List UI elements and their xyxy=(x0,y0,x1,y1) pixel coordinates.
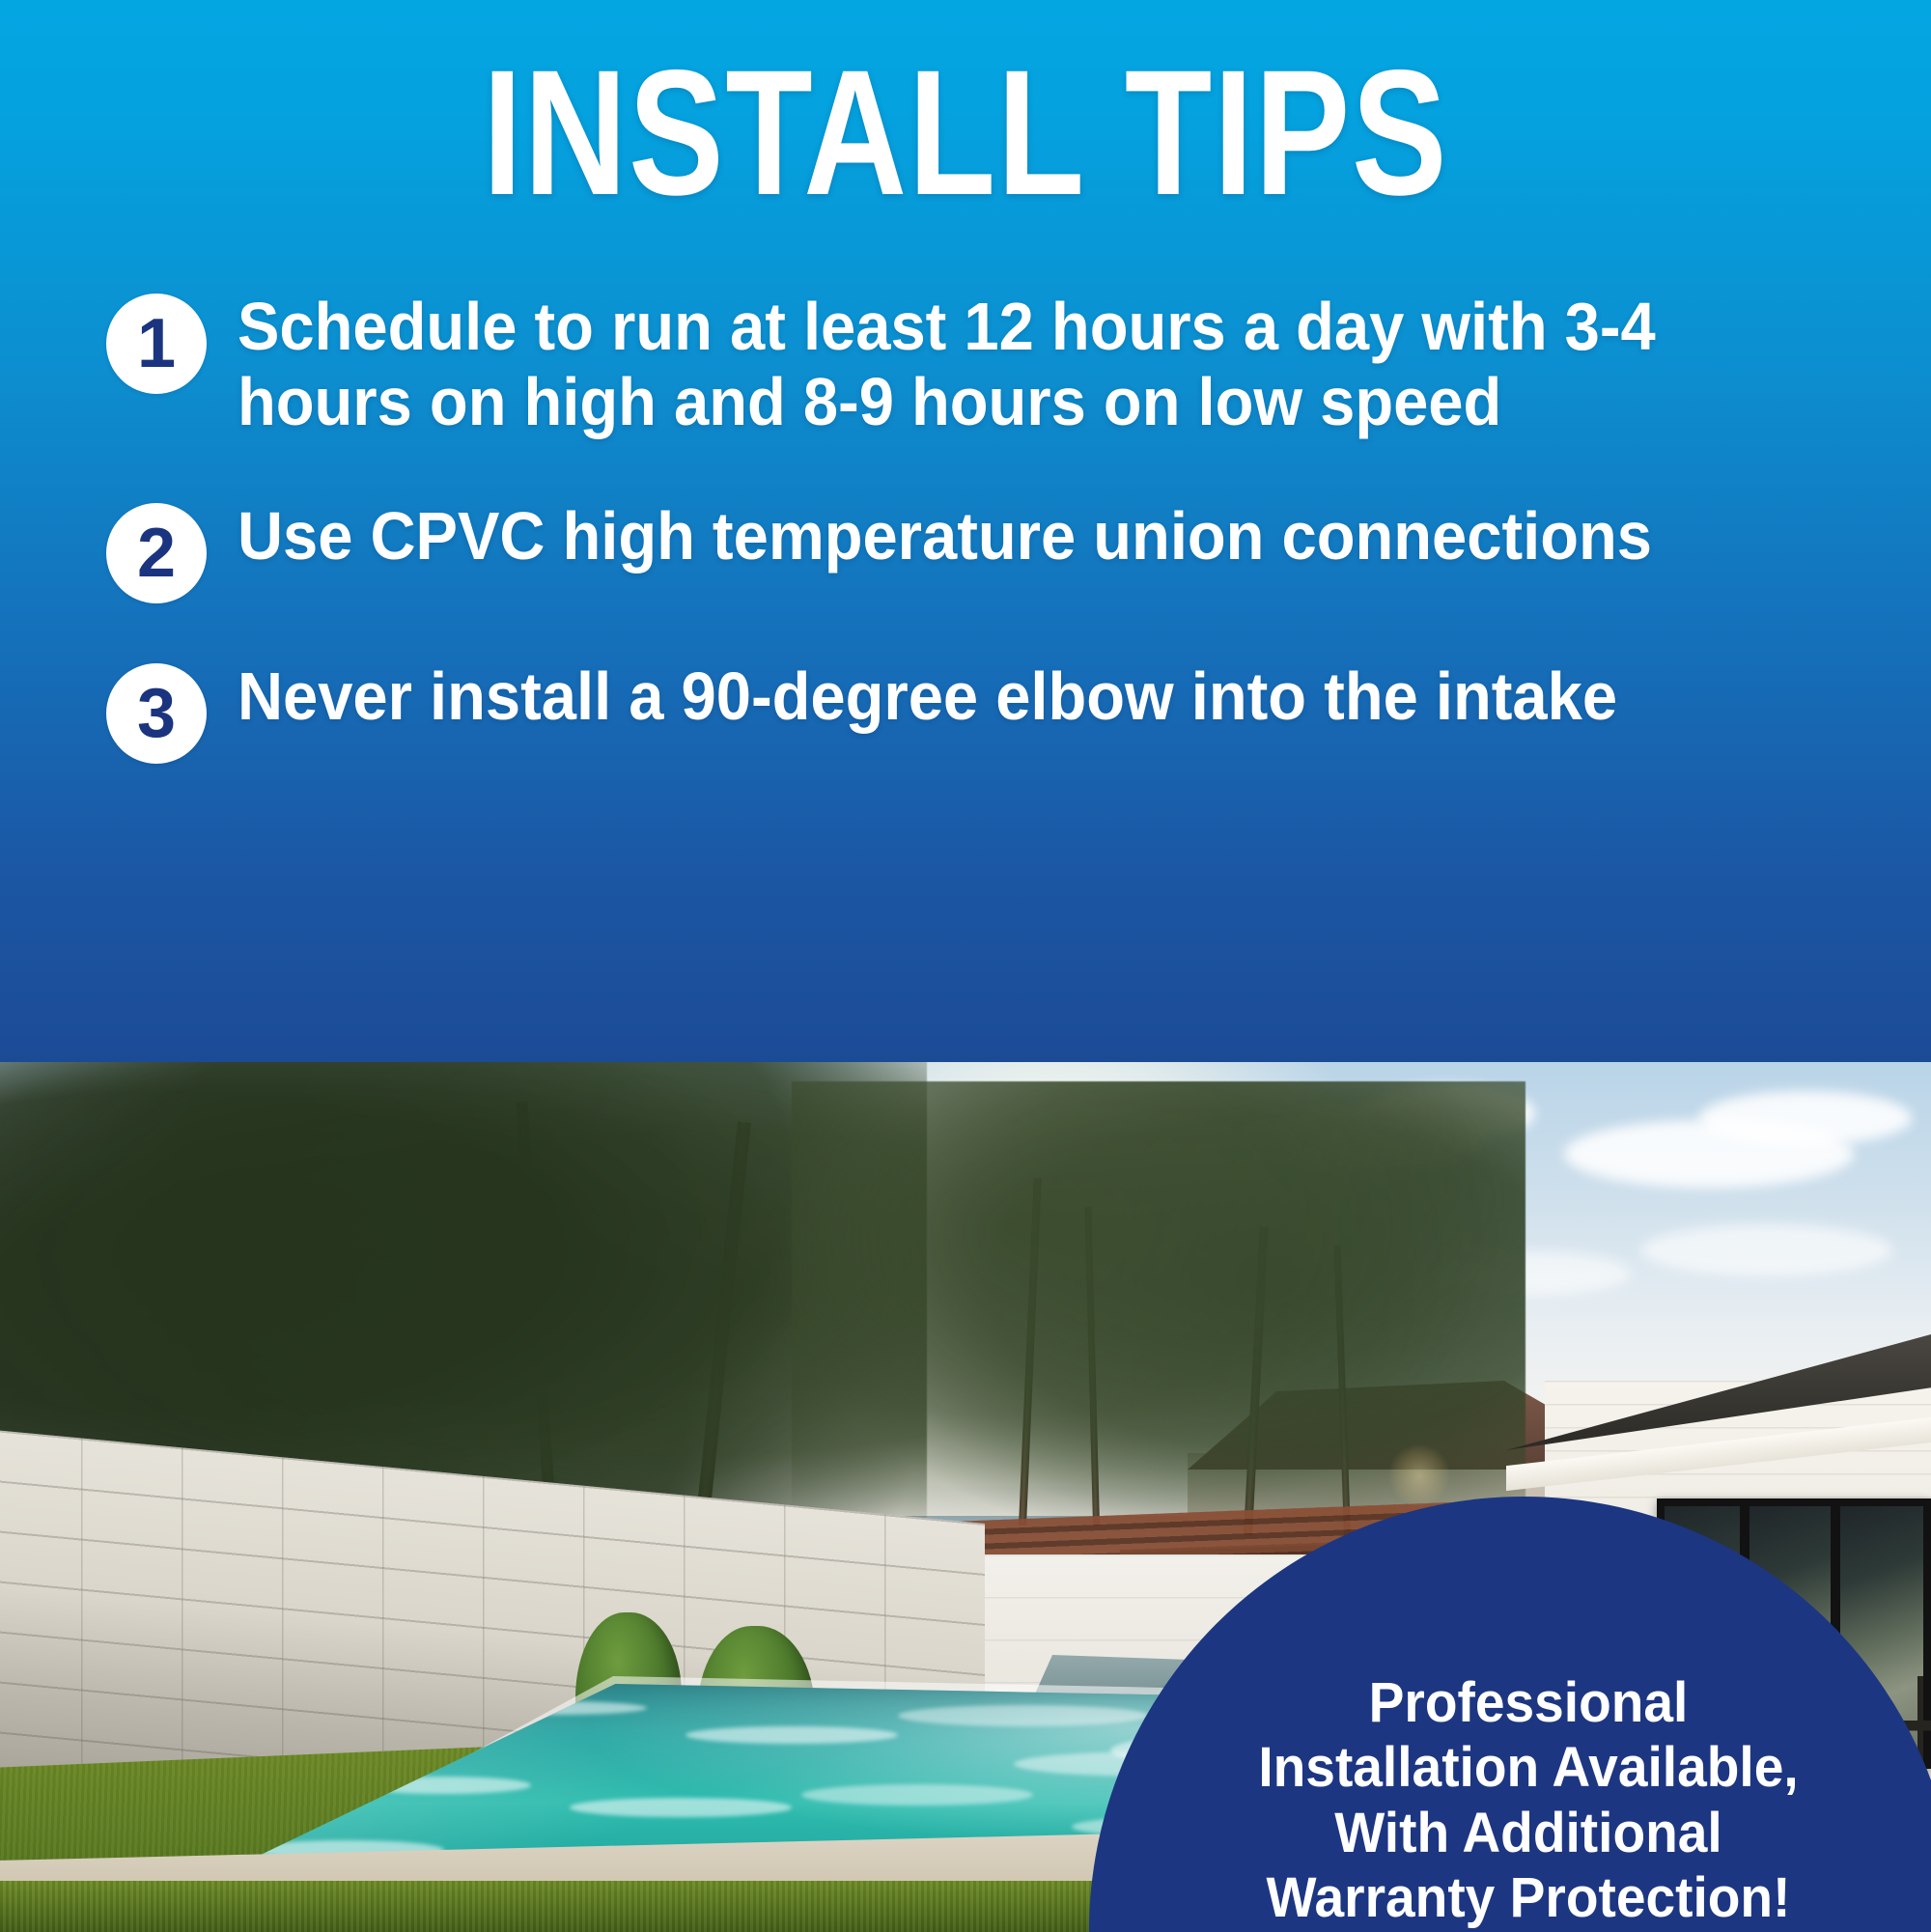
tip-text: Never install a 90-degree elbow into the… xyxy=(238,659,1758,735)
tip-text: Schedule to run at least 12 hours a day … xyxy=(238,290,1758,439)
tip-number-badge: 1 xyxy=(106,294,207,394)
promo-line-4: Warranty Protection! xyxy=(1166,1865,1891,1930)
page-title: INSTALL TIPS xyxy=(193,44,1738,223)
list-item: 2 Use CPVC high temperature union connec… xyxy=(106,499,1873,603)
lens-flare xyxy=(1388,1444,1450,1506)
list-item: 3 Never install a 90-degree elbow into t… xyxy=(106,659,1873,764)
cloud xyxy=(1641,1224,1892,1276)
tips-list: 1 Schedule to run at least 12 hours a da… xyxy=(106,290,1873,764)
promo-badge-text: Professional Installation Available, Wit… xyxy=(1166,1670,1891,1930)
list-item: 1 Schedule to run at least 12 hours a da… xyxy=(106,290,1873,439)
promo-line-3: With Additional xyxy=(1166,1801,1891,1865)
poster-root: INSTALL TIPS 1 Schedule to run at least … xyxy=(0,0,1931,1932)
tip-text: Use CPVC high temperature union connecti… xyxy=(238,499,1758,574)
tip-number-badge: 3 xyxy=(106,663,207,764)
tips-panel: INSTALL TIPS 1 Schedule to run at least … xyxy=(0,0,1931,1062)
tip-number-badge: 2 xyxy=(106,503,207,603)
cloud xyxy=(1699,1091,1912,1145)
promo-line-2: Installation Available, xyxy=(1166,1735,1891,1800)
promo-line-1: Professional xyxy=(1166,1670,1891,1735)
